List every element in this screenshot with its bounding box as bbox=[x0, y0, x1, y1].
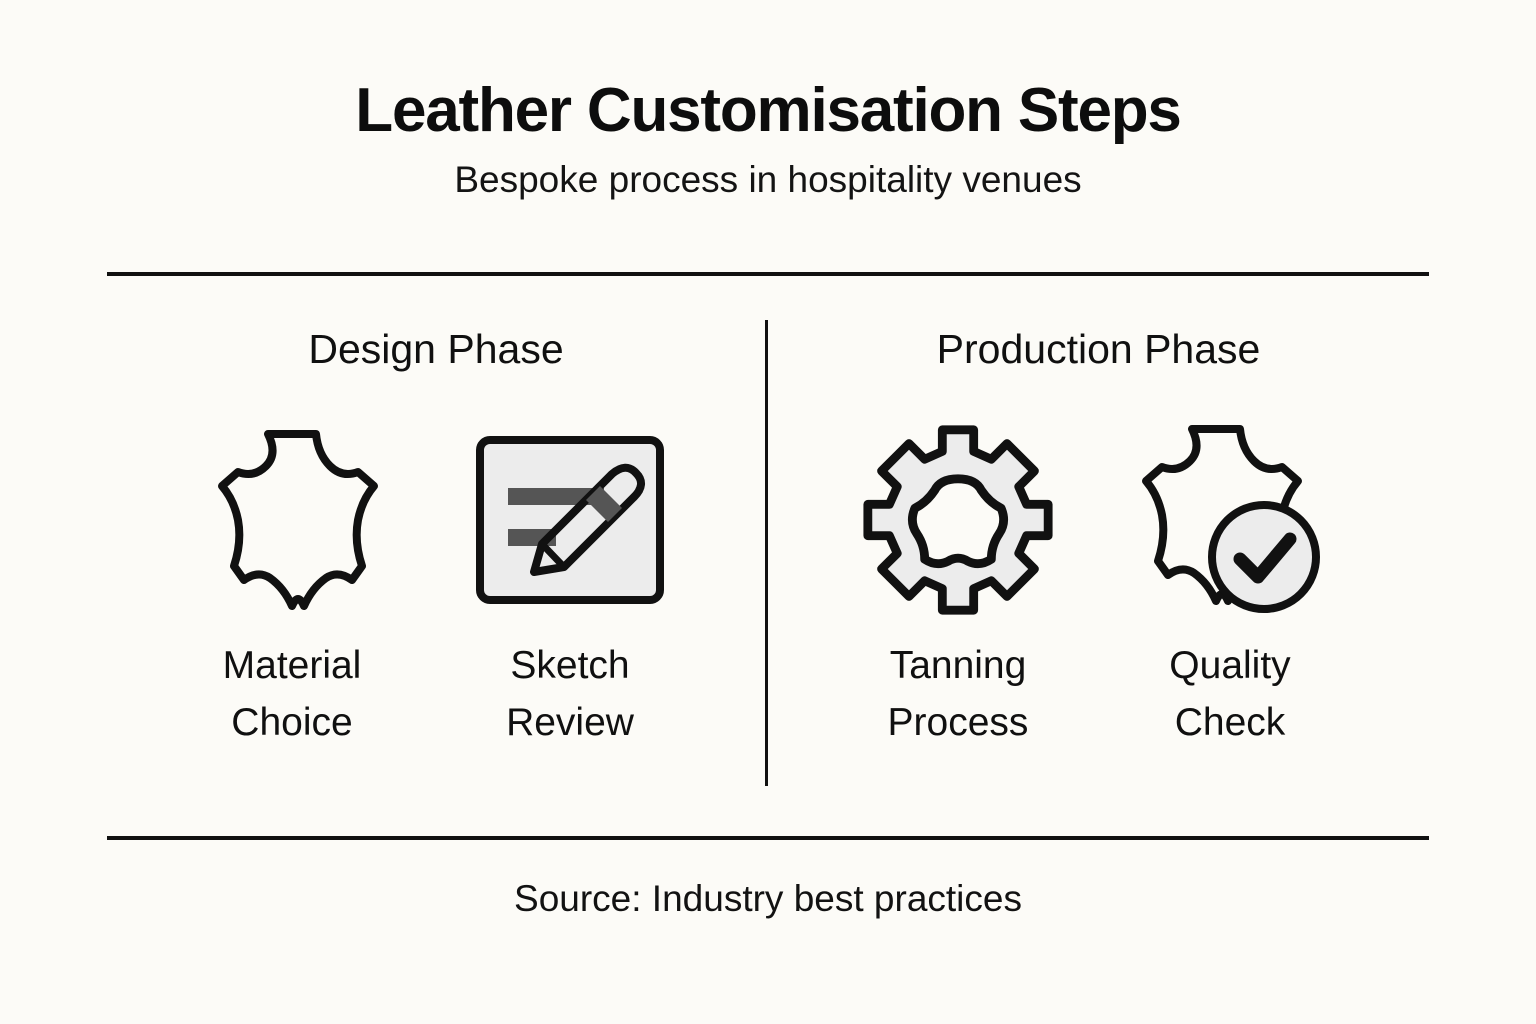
gear-icon bbox=[860, 420, 1056, 620]
step-caption: Tanning Process bbox=[808, 638, 1108, 751]
icon-container bbox=[420, 420, 720, 620]
page-subtitle: Bespoke process in hospitality venues bbox=[0, 160, 1536, 201]
icon-container bbox=[808, 420, 1108, 620]
step-caption: Material Choice bbox=[142, 638, 442, 751]
phase-heading-design: Design Phase bbox=[107, 326, 765, 373]
leather-hide-icon bbox=[202, 420, 382, 620]
step-caption: Sketch Review bbox=[420, 638, 720, 751]
step-quality-check: Quality Check bbox=[1080, 420, 1380, 751]
step-caption-line-2: Review bbox=[420, 695, 720, 752]
divider-bottom bbox=[107, 836, 1429, 840]
step-caption-line-1: Sketch bbox=[420, 638, 720, 695]
divider-vertical-phase-separator bbox=[765, 320, 768, 786]
phase-heading-production: Production Phase bbox=[768, 326, 1429, 373]
icon-container bbox=[142, 420, 442, 620]
source-note: Source: Industry best practices bbox=[0, 878, 1536, 920]
check-badge-circle bbox=[1212, 505, 1316, 609]
step-caption-line-1: Tanning bbox=[808, 638, 1108, 695]
infographic-canvas: Leather Customisation Steps Bespoke proc… bbox=[0, 0, 1536, 1024]
step-caption-line-1: Quality bbox=[1080, 638, 1380, 695]
sketch-pencil-icon bbox=[472, 432, 668, 608]
step-sketch-review: Sketch Review bbox=[420, 420, 720, 751]
step-caption: Quality Check bbox=[1080, 638, 1380, 751]
leather-hide-check-icon bbox=[1130, 417, 1330, 623]
page-title: Leather Customisation Steps bbox=[0, 78, 1536, 143]
header-block: Leather Customisation Steps Bespoke proc… bbox=[0, 78, 1536, 201]
divider-top bbox=[107, 272, 1429, 276]
step-caption-line-2: Process bbox=[808, 695, 1108, 752]
step-material-choice: Material Choice bbox=[142, 420, 442, 751]
step-tanning-process: Tanning Process bbox=[808, 420, 1108, 751]
step-caption-line-1: Material bbox=[142, 638, 442, 695]
step-caption-line-2: Check bbox=[1080, 695, 1380, 752]
step-caption-line-2: Choice bbox=[142, 695, 442, 752]
icon-container bbox=[1080, 420, 1380, 620]
